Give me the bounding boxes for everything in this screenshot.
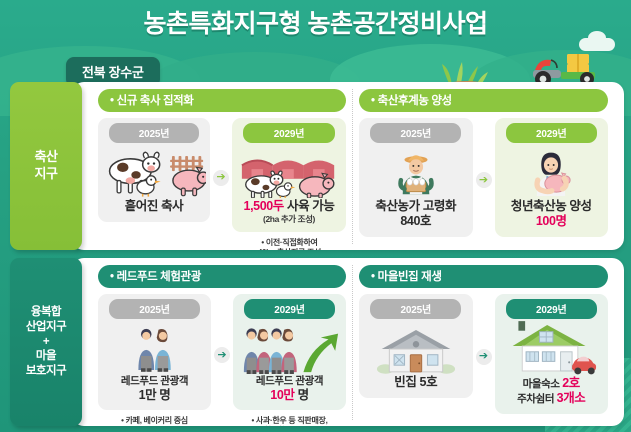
zone-tab-livestock[interactable]: 축산지구	[10, 82, 82, 250]
transition-arrow: ➔	[211, 347, 233, 363]
note-row: • 카페, 베이커리 중심 • 사과·한우 등 직판매장, 청년창업 체험장	[98, 412, 346, 426]
section-vacant-house-regeneration: •마을빈집 재생 2025년	[353, 265, 614, 420]
panel-fusion: •레드푸드 체험관광 2025년	[72, 258, 624, 426]
card-after: 2029년	[232, 118, 346, 232]
card-caption-line2: 1만 명	[121, 388, 188, 403]
highlight-value: 1,500두	[244, 199, 284, 213]
card-caption-line2: 10만 명	[256, 388, 323, 403]
card-after: 2029년	[495, 118, 609, 237]
infographic-root: 농촌특화지구형 농촌공간정비사업 전북 장수군 축산지구 •신규 축사 집적화 …	[0, 0, 631, 432]
arrow-right-icon: ➔	[476, 349, 492, 365]
before-after-cards: 2025년	[359, 294, 608, 414]
section-title: •축산후계농 양성	[359, 89, 608, 112]
highlight-value: 3개소	[557, 391, 586, 405]
year-badge: 2029년	[506, 299, 597, 319]
card-caption: 청년축산농 양성 100명	[511, 199, 592, 230]
transition-arrow: ➔	[210, 170, 232, 186]
arrow-right-icon: ➔	[214, 347, 230, 363]
bullet-icon: •	[110, 271, 114, 283]
highlight-value: 2호	[562, 376, 580, 390]
transition-arrow: ➔	[473, 349, 495, 365]
bullet-icon: •	[110, 95, 114, 107]
card-caption: 축산농가 고령화 840호	[375, 199, 456, 230]
bullet-icon: •	[371, 271, 375, 283]
card-before: 2025년	[359, 294, 473, 398]
zone-tab-label: 축산지구	[35, 149, 58, 182]
card-caption-line2: 840호	[375, 214, 456, 229]
zone-tab-fusion[interactable]: 융복합산업지구+마을보호지구	[10, 258, 82, 426]
highlight-value: 100명	[511, 214, 592, 229]
card-caption: 빈집 5호	[394, 375, 437, 390]
title-text: 농촌특화지구형 농촌공간정비사업	[144, 4, 488, 40]
arrow-right-icon: ➔	[213, 170, 229, 186]
panel-livestock: •신규 축사 집적화 2025년	[72, 82, 624, 250]
section-title: •레드푸드 체험관광	[98, 265, 346, 288]
card-caption: 1,500두 사육 가능 (2ha 추가 조성)	[244, 199, 335, 225]
before-after-cards: 2025년	[359, 118, 608, 237]
elderly-farmer-eggs-icon	[363, 146, 469, 198]
section-livestock-successor: •축산후계농 양성 2025년	[353, 89, 614, 244]
card-after: 2029년	[233, 294, 346, 410]
arrow-right-icon: ➔	[476, 172, 492, 188]
zone-row-fusion: 융복합산업지구+마을보호지구 •레드푸드 체험관광 2025년	[10, 258, 624, 426]
year-badge: 2029년	[243, 123, 334, 143]
young-farmer-piglet-icon	[499, 146, 605, 198]
renovated-house-car-icon	[499, 317, 605, 375]
before-after-cards: 2025년	[98, 118, 346, 232]
note-row: • 이전·직접화하여 40ha 축산지구 조성	[98, 234, 346, 250]
zone-tab-label: 융복합산업지구+마을보호지구	[26, 305, 66, 379]
caption-line-a: 마을숙소 2호	[517, 376, 585, 391]
note-row	[359, 416, 608, 427]
caption-line-b: 주차쉼터 3개소	[517, 391, 585, 406]
year-badge: 2029년	[244, 299, 334, 319]
barn-livestock-icon	[236, 146, 342, 198]
zone-row-livestock: 축산지구 •신규 축사 집적화 2025년	[10, 82, 624, 250]
card-caption: 레드푸드 관광객 10만 명	[256, 375, 323, 403]
page-title: 농촌특화지구형 농촌공간정비사업	[0, 4, 631, 40]
bullet-icon: •	[371, 95, 375, 107]
empty-house-icon	[363, 322, 469, 374]
card-before: 2025년	[98, 118, 210, 222]
card-before: 2025년	[98, 294, 211, 410]
section-redfood-tourism: •레드푸드 체험관광 2025년	[92, 265, 353, 420]
year-badge: 2029년	[506, 123, 597, 143]
year-badge: 2025년	[109, 299, 199, 319]
transition-arrow: ➔	[473, 172, 495, 188]
card-caption: 레드푸드 관광객 1만 명	[121, 375, 188, 403]
year-badge: 2025년	[370, 123, 461, 143]
card-caption: 흩어진 축사	[125, 199, 184, 214]
card-caption: 마을숙소 2호 주차쉼터 3개소	[517, 376, 585, 407]
caption-sub: (2ha 추가 조성)	[244, 214, 335, 224]
four-tourists-growth-arrow-icon	[237, 322, 342, 374]
highlight-value: 10만	[270, 388, 294, 402]
before-after-cards: 2025년	[98, 294, 346, 410]
year-badge: 2025년	[370, 299, 461, 319]
section-note: • 카페, 베이커리 중심	[98, 416, 211, 426]
card-after: 마을숙소 2호 주차쉼터 3개소 2029년	[495, 294, 609, 414]
section-note: • 사과·한우 등 직판매장, 청년창업 체험장	[233, 416, 346, 426]
card-before: 2025년	[359, 118, 473, 237]
section-note: • 이전·직접화하여 40ha 축산지구 조성	[233, 238, 346, 250]
section-title: •마을빈집 재생	[359, 265, 608, 288]
two-tourists-icon	[102, 322, 207, 374]
note-row	[359, 239, 608, 251]
cow-pig-duck-icon	[102, 146, 206, 198]
grass-decoration	[440, 48, 492, 86]
year-badge: 2025년	[109, 123, 198, 143]
section-title: •신규 축사 집적화	[98, 89, 346, 112]
section-new-barn-cluster: •신규 축사 집적화 2025년	[92, 89, 353, 244]
